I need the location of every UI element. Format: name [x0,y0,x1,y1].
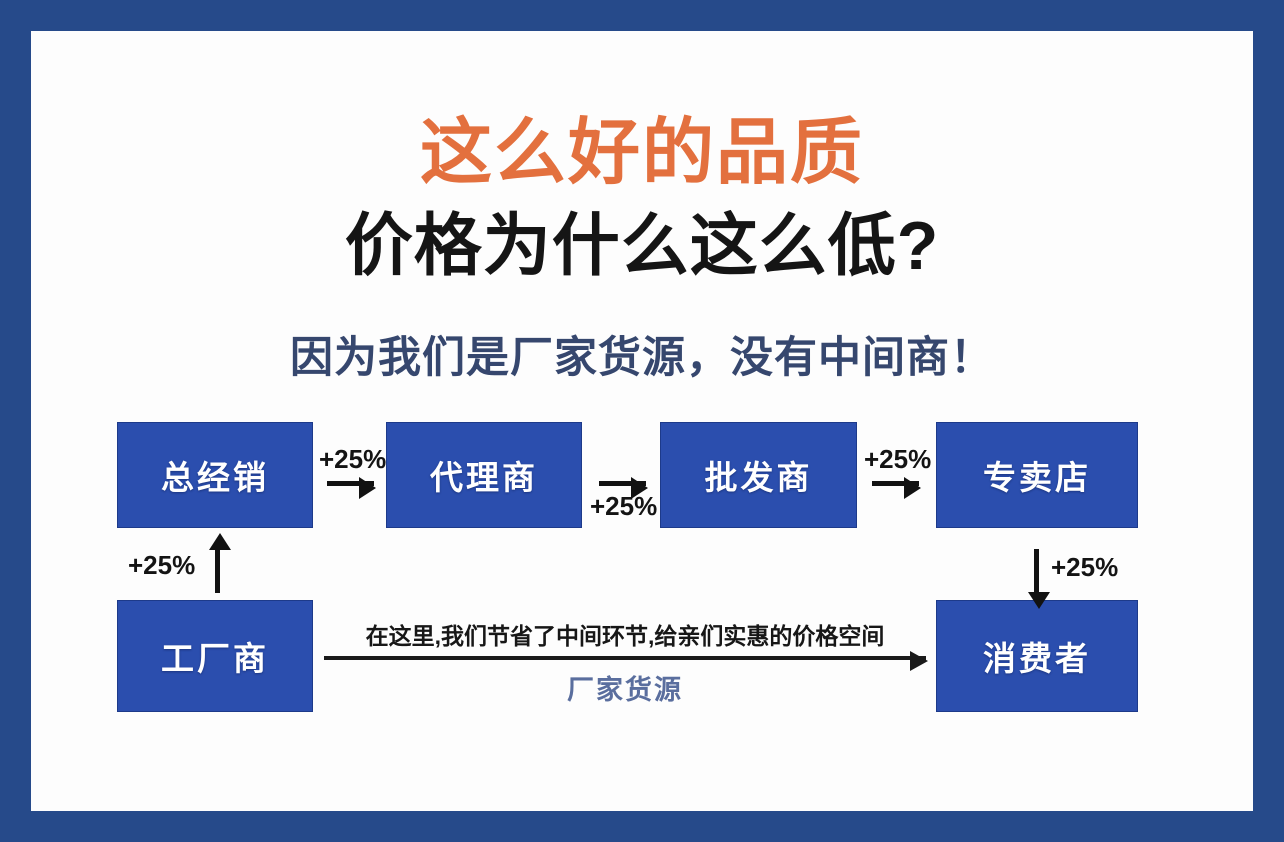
poster-canvas: 这么好的品质 价格为什么这么低? 因为我们是厂家货源，没有中间商！ 总经销 代理… [31,31,1253,811]
arrow-right-icon-1 [327,481,374,486]
markup-label-5: +25% [1051,552,1118,583]
arrow-down-icon [1034,549,1039,593]
markup-label-3: +25% [864,444,931,475]
markup-label-4: +25% [128,550,195,581]
arrow-up-icon [215,549,220,593]
node-pifashang: 批发商 [661,423,856,527]
direct-path-note-top: 在这里,我们节省了中间环节,给亲们实惠的价格空间 [324,617,926,651]
arrow-right-icon-3 [872,481,919,486]
arrow-right-icon-direct [324,656,926,660]
arrow-right-icon-2 [599,481,646,486]
node-zhuanmaidian: 专卖店 [937,423,1137,527]
node-zongjingxiao: 总经销 [118,423,312,527]
poster-root: 这么好的品质 价格为什么这么低? 因为我们是厂家货源，没有中间商！ 总经销 代理… [0,0,1284,842]
node-dailishang: 代理商 [387,423,581,527]
markup-label-2: +25% [590,491,657,522]
markup-label-1: +25% [319,444,386,475]
supply-chain-diagram: 总经销 代理商 批发商 专卖店 工厂商 消费者 +25% +25% +25% +… [31,31,1253,811]
direct-path-note-bottom: 厂家货源 [324,668,926,707]
node-xiaofeizhe: 消费者 [937,601,1137,711]
node-gongchang: 工厂商 [118,601,312,711]
